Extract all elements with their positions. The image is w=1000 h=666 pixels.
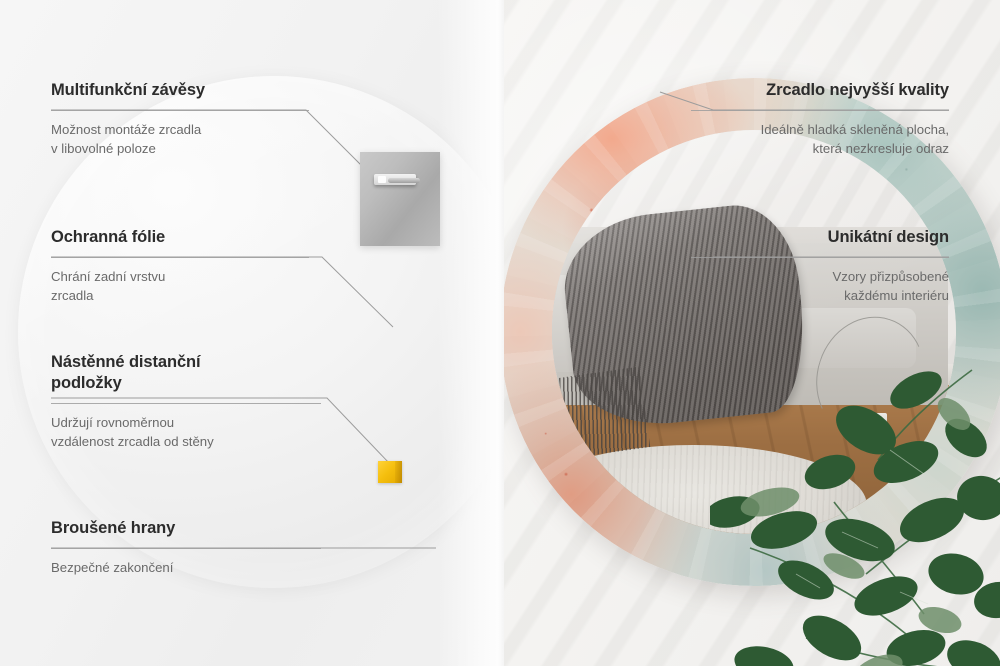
callout-divider [51, 257, 309, 258]
green-plant-foliage [710, 352, 1000, 666]
hanger-arm [388, 178, 420, 183]
callout-multifunkcni-zavesy: Multifunkční závěsy Možnost montáže zrca… [51, 80, 309, 159]
callout-divider [691, 110, 949, 111]
callout-zrcadlo-nejvyssi-kvality: Zrcadlo nejvyšší kvality Ideálně hladká … [691, 80, 949, 159]
callout-title: Broušené hrany [51, 518, 321, 539]
callout-title: Nástěnné distanční podložky [51, 352, 321, 394]
callout-description: Udržují rovnoměrnou vzdálenost zrcadla o… [51, 414, 321, 451]
hanger-screw-hole [378, 176, 386, 183]
callout-description: Možnost montáže zrcadla v libovolné polo… [51, 121, 309, 158]
callout-title: Zrcadlo nejvyšší kvality [691, 80, 949, 101]
callout-brousene-hrany: Broušené hrany Bezpečné zakončení [51, 518, 321, 578]
callout-title: Multifunkční závěsy [51, 80, 309, 101]
callout-title: Ochranná fólie [51, 227, 309, 248]
panel-split-seam [494, 0, 504, 666]
callout-ochranna-folie: Ochranná fólie Chrání zadní vrstvu zrcad… [51, 227, 309, 306]
wall-spacer-thumbnail [378, 461, 402, 483]
leaves-illustration-icon [710, 352, 1000, 666]
callout-nastenne-distancni-podlozky: Nástěnné distanční podložky Udržují rovn… [51, 352, 321, 452]
callout-divider [691, 257, 949, 258]
callout-divider [51, 110, 309, 111]
callout-description: Bezpečné zakončení [51, 559, 321, 578]
infographic-stage: Multifunkční závěsy Možnost montáže zrca… [0, 0, 1000, 666]
callout-divider [51, 403, 321, 404]
callout-title: Unikátní design [691, 227, 949, 248]
callout-unikatni-design: Unikátní design Vzory přizpůsobené každé… [691, 227, 949, 306]
left-panel-edge-shading [438, 0, 498, 666]
callout-divider [51, 548, 321, 549]
callout-description: Ideálně hladká skleněná plocha, která ne… [691, 121, 949, 158]
callout-description: Chrání zadní vrstvu zrcadla [51, 268, 309, 305]
callout-description: Vzory přizpůsobené každému interiéru [691, 268, 949, 305]
hanger-bracket-thumbnail [360, 152, 440, 246]
